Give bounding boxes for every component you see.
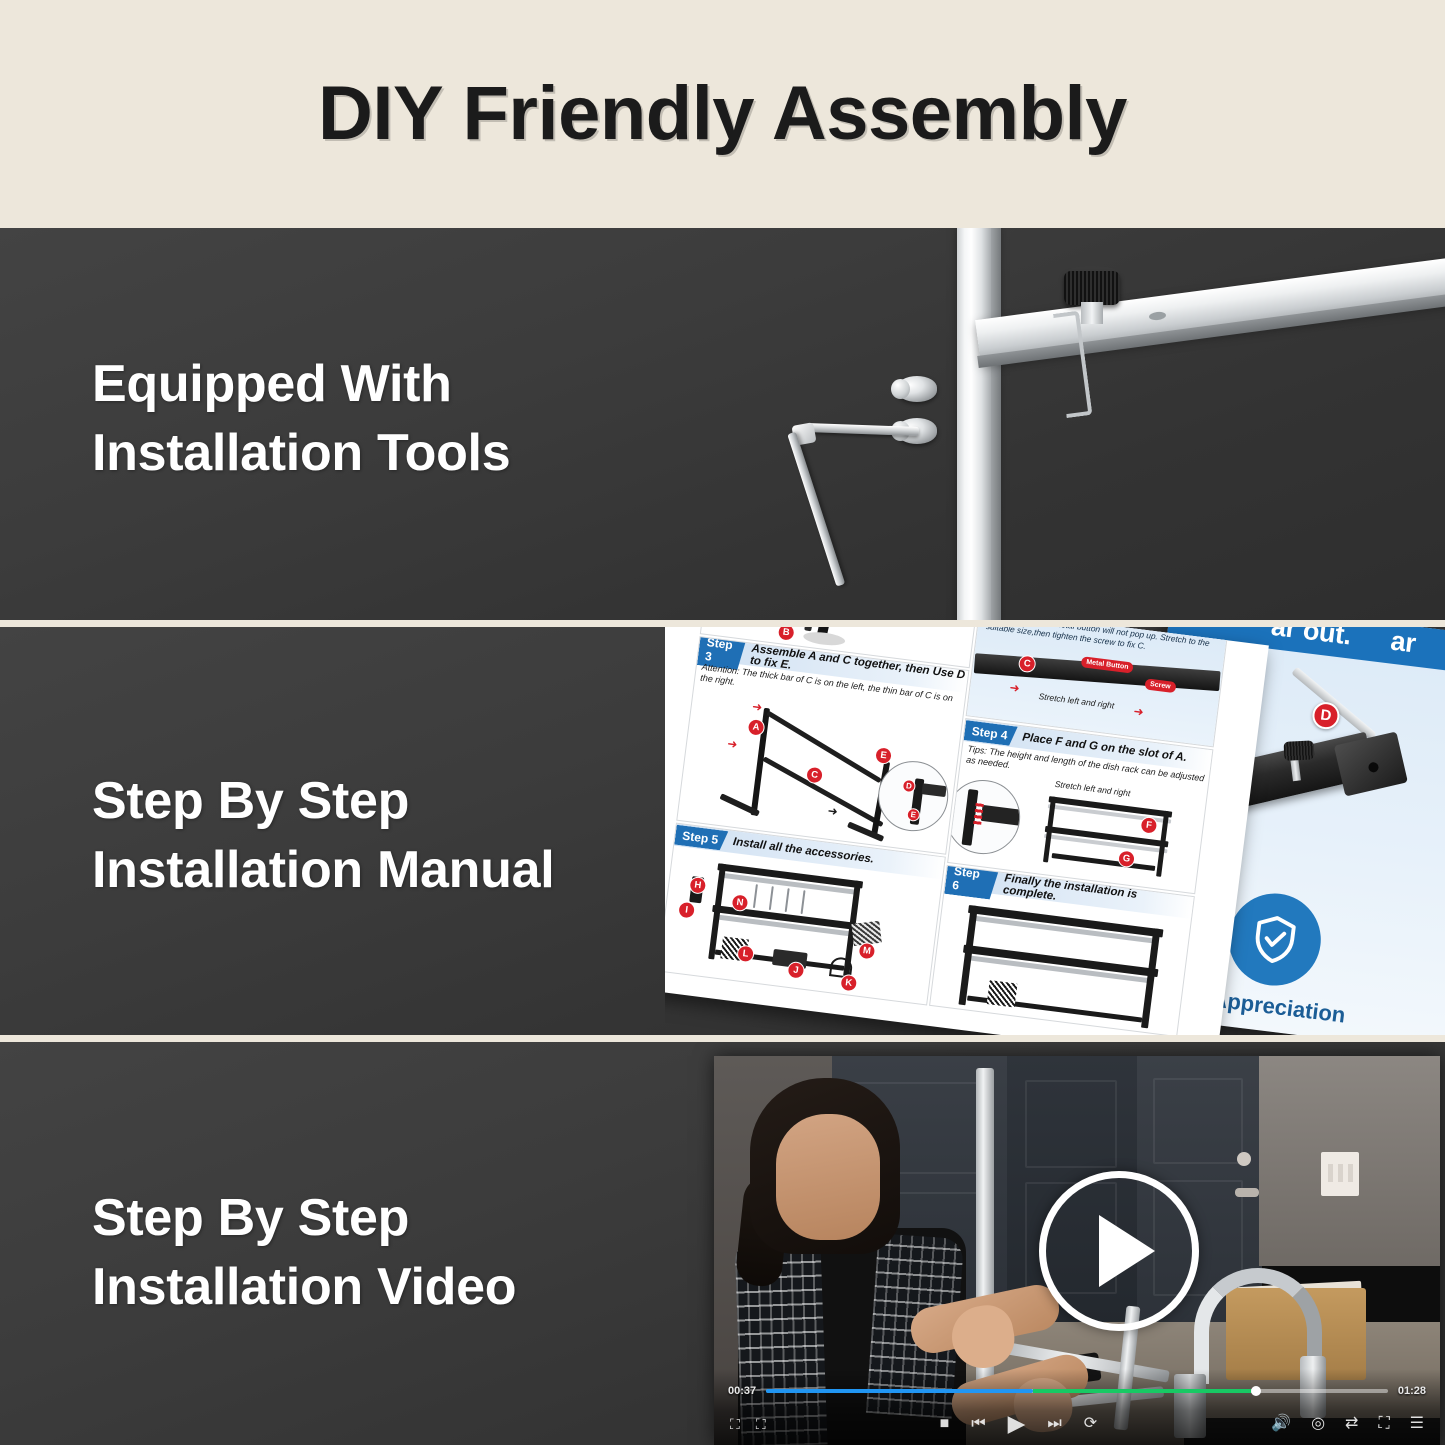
progress-buffered — [766, 1389, 1033, 1393]
next-icon[interactable]: ⏭ — [1047, 1416, 1061, 1432]
manual-cell-step4: Step 4 Place F and G on the slot of A. T… — [947, 718, 1213, 894]
stop-icon[interactable]: ■ — [940, 1416, 950, 1432]
black-thumb-knob — [1064, 271, 1120, 305]
blue-banner-text-right: ar — [1389, 627, 1418, 659]
step3-arrow-2: ➜ — [727, 737, 738, 750]
video-right-controls: 🔊 ◎ ⇄ ⛶ ☰ — [1271, 1416, 1424, 1432]
marker-b-badge: B — [777, 627, 796, 642]
speed-icon[interactable]: ◎ — [1311, 1416, 1325, 1432]
feature-panel-video: Step By Step Installation Video — [0, 1042, 1445, 1445]
video-center-controls: ■ ⏮ ▶ ⏭ ⟳ — [766, 1412, 1272, 1435]
shield-check-icon — [1224, 888, 1327, 991]
volume-icon[interactable]: 🔊 — [1271, 1416, 1291, 1432]
header-banner: DIY Friendly Assembly — [0, 0, 1445, 228]
blue-page-wrench-shaft — [1291, 667, 1376, 741]
marker-i-badge: I — [677, 901, 696, 920]
post-edge — [991, 228, 1001, 620]
screenshot-icon[interactable]: ⛶ — [756, 1417, 766, 1431]
play-circle-icon[interactable] — [1039, 1171, 1199, 1331]
knob-stem — [1081, 302, 1103, 324]
marker-e-badge: E — [874, 746, 893, 765]
step3-bar-c — [763, 756, 884, 827]
video-photo: 00:37 01:28 ⛶ ⛶ — [700, 1042, 1445, 1445]
video-player[interactable]: 00:37 01:28 ⛶ ⛶ — [714, 1056, 1440, 1445]
video-controls-bar: 00:37 01:28 ⛶ ⛶ — [714, 1369, 1440, 1445]
play-icon[interactable]: ▶ — [1008, 1412, 1026, 1435]
door-handle — [1235, 1188, 1259, 1197]
video-button-row: ⛶ ⛶ ■ ⏮ ▶ ⏭ ⟳ 🔊 ◎ ⇄ — [714, 1412, 1440, 1435]
duration-label: 01:28 — [1398, 1385, 1426, 1397]
current-time-label: 00:37 — [728, 1385, 756, 1397]
step4-dishrack-diagram — [1041, 790, 1181, 880]
door-3-panel-top — [1153, 1078, 1243, 1164]
light-switch-plate — [1321, 1152, 1359, 1196]
manual-cell-step3: Step 3 Assemble A and C together, then U… — [676, 636, 969, 855]
hex-key-leg — [787, 432, 845, 587]
inset-bar — [922, 783, 947, 797]
rail-black-knob — [1284, 740, 1315, 761]
progress-handle[interactable] — [1251, 1386, 1261, 1396]
chrome-rack-photo — [765, 228, 1445, 620]
panel-label-manual: Step By Step Installation Manual — [92, 767, 554, 904]
inset4-bar — [981, 805, 1023, 826]
menu-icon[interactable]: ☰ — [1410, 1416, 1424, 1432]
theater-mode-icon[interactable]: ⛶ — [730, 1417, 740, 1431]
manual-photo: ar out. ar D Appreciation ka — [665, 627, 1445, 1035]
stretch-arrow-left: ➜ — [1009, 681, 1020, 694]
video-left-controls: ⛶ ⛶ — [730, 1417, 766, 1431]
page-title: DIY Friendly Assembly — [318, 76, 1127, 152]
panel-label-video: Step By Step Installation Video — [92, 1184, 516, 1321]
product-infographic: DIY Friendly Assembly Equipped With Inst… — [0, 0, 1445, 1445]
progress-scrubber[interactable] — [766, 1389, 1388, 1393]
feature-panel-tools: Equipped With Installation Tools — [0, 228, 1445, 620]
settings-sliders-icon[interactable]: ⇄ — [1345, 1416, 1358, 1432]
video-progress-row: 00:37 01:28 — [714, 1385, 1440, 1397]
step5-number: Step 5 — [674, 825, 728, 851]
inset4-red-marks — [973, 802, 984, 825]
manual-cell-step5: Step 5 Install all the accessories. — [665, 823, 946, 1006]
fullscreen-icon[interactable]: ⛶ — [1378, 1416, 1389, 1432]
play-triangle — [1099, 1215, 1155, 1287]
step3-arrow-4: ➜ — [827, 805, 838, 818]
marker-m-badge: M — [857, 942, 876, 961]
manual-cell-step6: Step 6 Finally the installation is compl… — [929, 865, 1195, 1035]
part-b-foot — [803, 630, 846, 647]
blue-banner-text: ar out. — [1269, 627, 1353, 651]
progress-played — [1033, 1389, 1251, 1393]
door-2-panel-top — [1025, 1080, 1117, 1168]
panel-label-tools: Equipped With Installation Tools — [92, 350, 510, 487]
door-lock — [1237, 1152, 1251, 1166]
previous-icon[interactable]: ⏮ — [971, 1416, 985, 1432]
bolt-cap-upper — [891, 379, 910, 399]
step6-number: Step 6 — [944, 865, 1000, 900]
step4-number: Step 4 — [964, 720, 1018, 746]
marker-k-badge: K — [839, 974, 858, 993]
person-face — [776, 1114, 880, 1240]
step6-dishrack-diagram — [956, 905, 1167, 1029]
step3-arrow-1: ➜ — [751, 700, 762, 713]
replay-icon[interactable]: ⟳ — [1084, 1416, 1097, 1432]
feature-panel-manual: Step By Step Installation Manual ar out.… — [0, 627, 1445, 1035]
step4-detail-inset — [947, 776, 1024, 859]
manual-page-white: B ...ys4: You can pull the thin bar of C… — [665, 627, 1269, 1035]
stretch-arrow-right: ➜ — [1133, 705, 1144, 718]
